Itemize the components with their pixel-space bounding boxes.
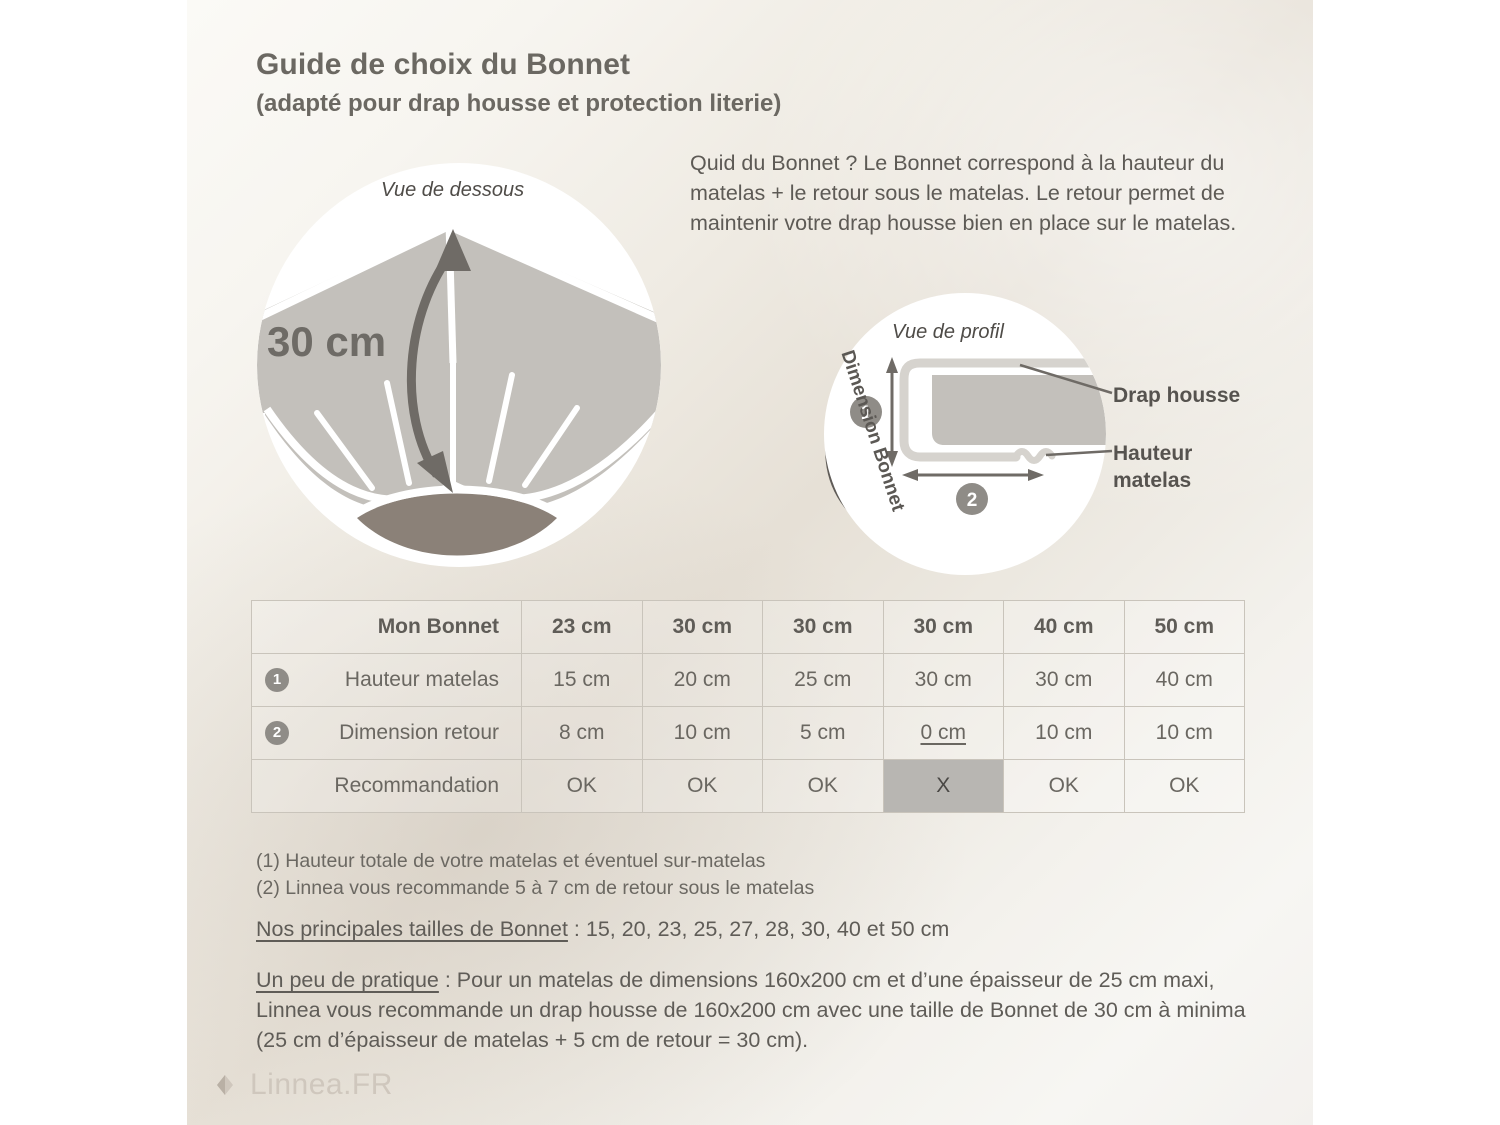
- table-cell: 20 cm: [642, 654, 763, 707]
- table-cell: 10 cm: [642, 707, 763, 760]
- page-subtitle: (adapté pour drap housse et protection l…: [256, 90, 781, 118]
- footnotes: (1) Hauteur totale de votre matelas et é…: [256, 848, 814, 902]
- table-cell: OK: [1004, 760, 1125, 813]
- table-cell: 5 cm: [763, 707, 884, 760]
- table-cell: 30 cm: [642, 601, 763, 654]
- table-cell: OK: [522, 760, 643, 813]
- available-sizes-label: Nos principales tailles de Bonnet: [256, 917, 568, 941]
- bottom-view-measure: 30 cm: [267, 318, 386, 366]
- row-label-text: Mon Bonnet: [378, 615, 499, 638]
- footnote-2: (2) Linnea vous recommande 5 à 7 cm de r…: [256, 875, 814, 902]
- footnote-1: (1) Hauteur totale de votre matelas et é…: [256, 848, 814, 875]
- table-row: 1Hauteur matelas15 cm20 cm25 cm30 cm30 c…: [252, 654, 1245, 707]
- table-row-label: 2Dimension retour: [252, 707, 522, 760]
- table-cell: OK: [763, 760, 884, 813]
- intro-paragraph: Quid du Bonnet ? Le Bonnet correspond à …: [690, 148, 1270, 238]
- table-row: 2Dimension retour8 cm10 cm5 cm0 cm10 cm1…: [252, 707, 1245, 760]
- table-cell: 23 cm: [522, 601, 643, 654]
- row-badge: 1: [265, 668, 289, 692]
- row-badge: 2: [265, 721, 289, 745]
- infographic-root: Guide de choix du Bonnet (adapté pour dr…: [0, 0, 1500, 1125]
- table-cell: 8 cm: [522, 707, 643, 760]
- page-title: Guide de choix du Bonnet: [256, 48, 630, 82]
- practice-label: Un peu de pratique: [256, 968, 439, 992]
- row-label-text: Hauteur matelas: [345, 668, 499, 691]
- table-cell: OK: [642, 760, 763, 813]
- table-cell: 50 cm: [1124, 601, 1245, 654]
- svg-text:2: 2: [967, 490, 978, 511]
- table-cell: 30 cm: [883, 601, 1004, 654]
- table-cell: 30 cm: [883, 654, 1004, 707]
- table-row: Mon Bonnet23 cm30 cm30 cm30 cm40 cm50 cm: [252, 601, 1245, 654]
- table-cell: X: [883, 760, 1004, 813]
- leaf-diamond-icon: [212, 1072, 238, 1098]
- table-row: RecommandationOKOKOKXOKOK: [252, 760, 1245, 813]
- row-label-text: Dimension retour: [339, 721, 499, 744]
- table-cell: 10 cm: [1004, 707, 1125, 760]
- callout-hauteur-matelas: Hauteur matelas: [1113, 440, 1192, 494]
- linnea-logo[interactable]: Linnea.FR: [212, 1068, 393, 1102]
- table-cell: 0 cm: [883, 707, 1004, 760]
- table-row-label: Recommandation: [252, 760, 522, 813]
- table-row-label: Mon Bonnet: [252, 601, 522, 654]
- profile-view-caption: Vue de profil: [892, 321, 1004, 344]
- bonnet-table: Mon Bonnet23 cm30 cm30 cm30 cm40 cm50 cm…: [251, 600, 1245, 813]
- table-cell: 40 cm: [1124, 654, 1245, 707]
- table-cell: 15 cm: [522, 654, 643, 707]
- table-cell: 30 cm: [1004, 654, 1125, 707]
- logo-text: Linnea.FR: [250, 1068, 393, 1102]
- row-label-text: Recommandation: [334, 774, 499, 797]
- bottom-view-caption: Vue de dessous: [381, 179, 524, 202]
- diagram-bottom-view: Vue de dessous 30 cm: [257, 163, 661, 567]
- available-sizes-value: : 15, 20, 23, 25, 27, 28, 30, 40 et 50 c…: [568, 917, 949, 941]
- cell-underlined-value: 0 cm: [920, 721, 966, 744]
- callout-hauteur-line2: matelas: [1113, 467, 1192, 494]
- table-cell: 25 cm: [763, 654, 884, 707]
- table-row-label: 1Hauteur matelas: [252, 654, 522, 707]
- practice-paragraph: Un peu de pratique : Pour un matelas de …: [256, 965, 1256, 1055]
- callout-drap-housse: Drap housse: [1113, 382, 1240, 409]
- available-sizes-line: Nos principales tailles de Bonnet : 15, …: [256, 917, 949, 942]
- table-cell: 30 cm: [763, 601, 884, 654]
- table-cell: OK: [1124, 760, 1245, 813]
- table-cell: 40 cm: [1004, 601, 1125, 654]
- table-cell: 10 cm: [1124, 707, 1245, 760]
- callout-hauteur-line1: Hauteur: [1113, 440, 1192, 467]
